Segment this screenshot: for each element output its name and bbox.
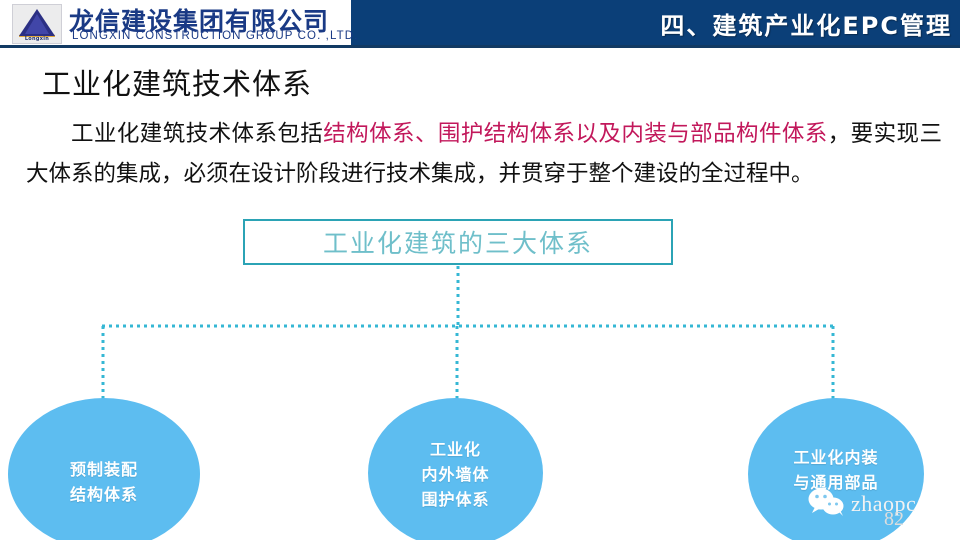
diagram-node-1-label: 预制装配 结构体系	[70, 457, 138, 507]
header-divider-rule	[0, 45, 960, 48]
body-paragraph: 工业化建筑技术体系包括结构体系、围护结构体系以及内装与部品构件体系，要实现三大体…	[26, 114, 942, 194]
node-1-line-2: 结构体系	[70, 482, 138, 507]
node-1-line-1: 预制装配	[70, 457, 138, 482]
diagram-node-2: 工业化 内外墙体 围护体系	[368, 398, 543, 540]
node-2-line-2: 内外墙体	[421, 462, 489, 487]
longxin-triangle-icon: Longxin	[12, 4, 62, 44]
paragraph-highlight: 结构体系、围护结构体系以及内装与部品构件体系	[323, 121, 828, 147]
page-number: 82	[884, 508, 904, 531]
paragraph-part-1: 工业化建筑技术体系包括	[71, 121, 323, 147]
node-3-line-1: 工业化内装	[793, 445, 878, 470]
logo-badge-text: Longxin	[13, 36, 61, 42]
diagram-root-label: 工业化建筑的三大体系	[323, 224, 593, 260]
company-logo: Longxin 龙信建设集团有限公司 LONGXIN CONSTRUCTION …	[12, 3, 348, 45]
node-2-line-3: 围护体系	[421, 487, 489, 512]
diagram-node-1: 预制装配 结构体系	[8, 398, 200, 540]
section-title: 四、建筑产业化EPC管理	[660, 6, 952, 41]
wechat-icon	[808, 487, 846, 521]
diagram-node-2-label: 工业化 内外墙体 围护体系	[421, 437, 489, 512]
slide: Longxin 龙信建设集团有限公司 LONGXIN CONSTRUCTION …	[0, 0, 960, 540]
node-2-line-1: 工业化	[421, 437, 489, 462]
diagram-root-box: 工业化建筑的三大体系	[243, 219, 673, 265]
page-title: 工业化建筑技术体系	[42, 61, 312, 103]
brand-name-en: LONGXIN CONSTRUCTION GROUP CO. ,LTD.	[72, 30, 358, 42]
